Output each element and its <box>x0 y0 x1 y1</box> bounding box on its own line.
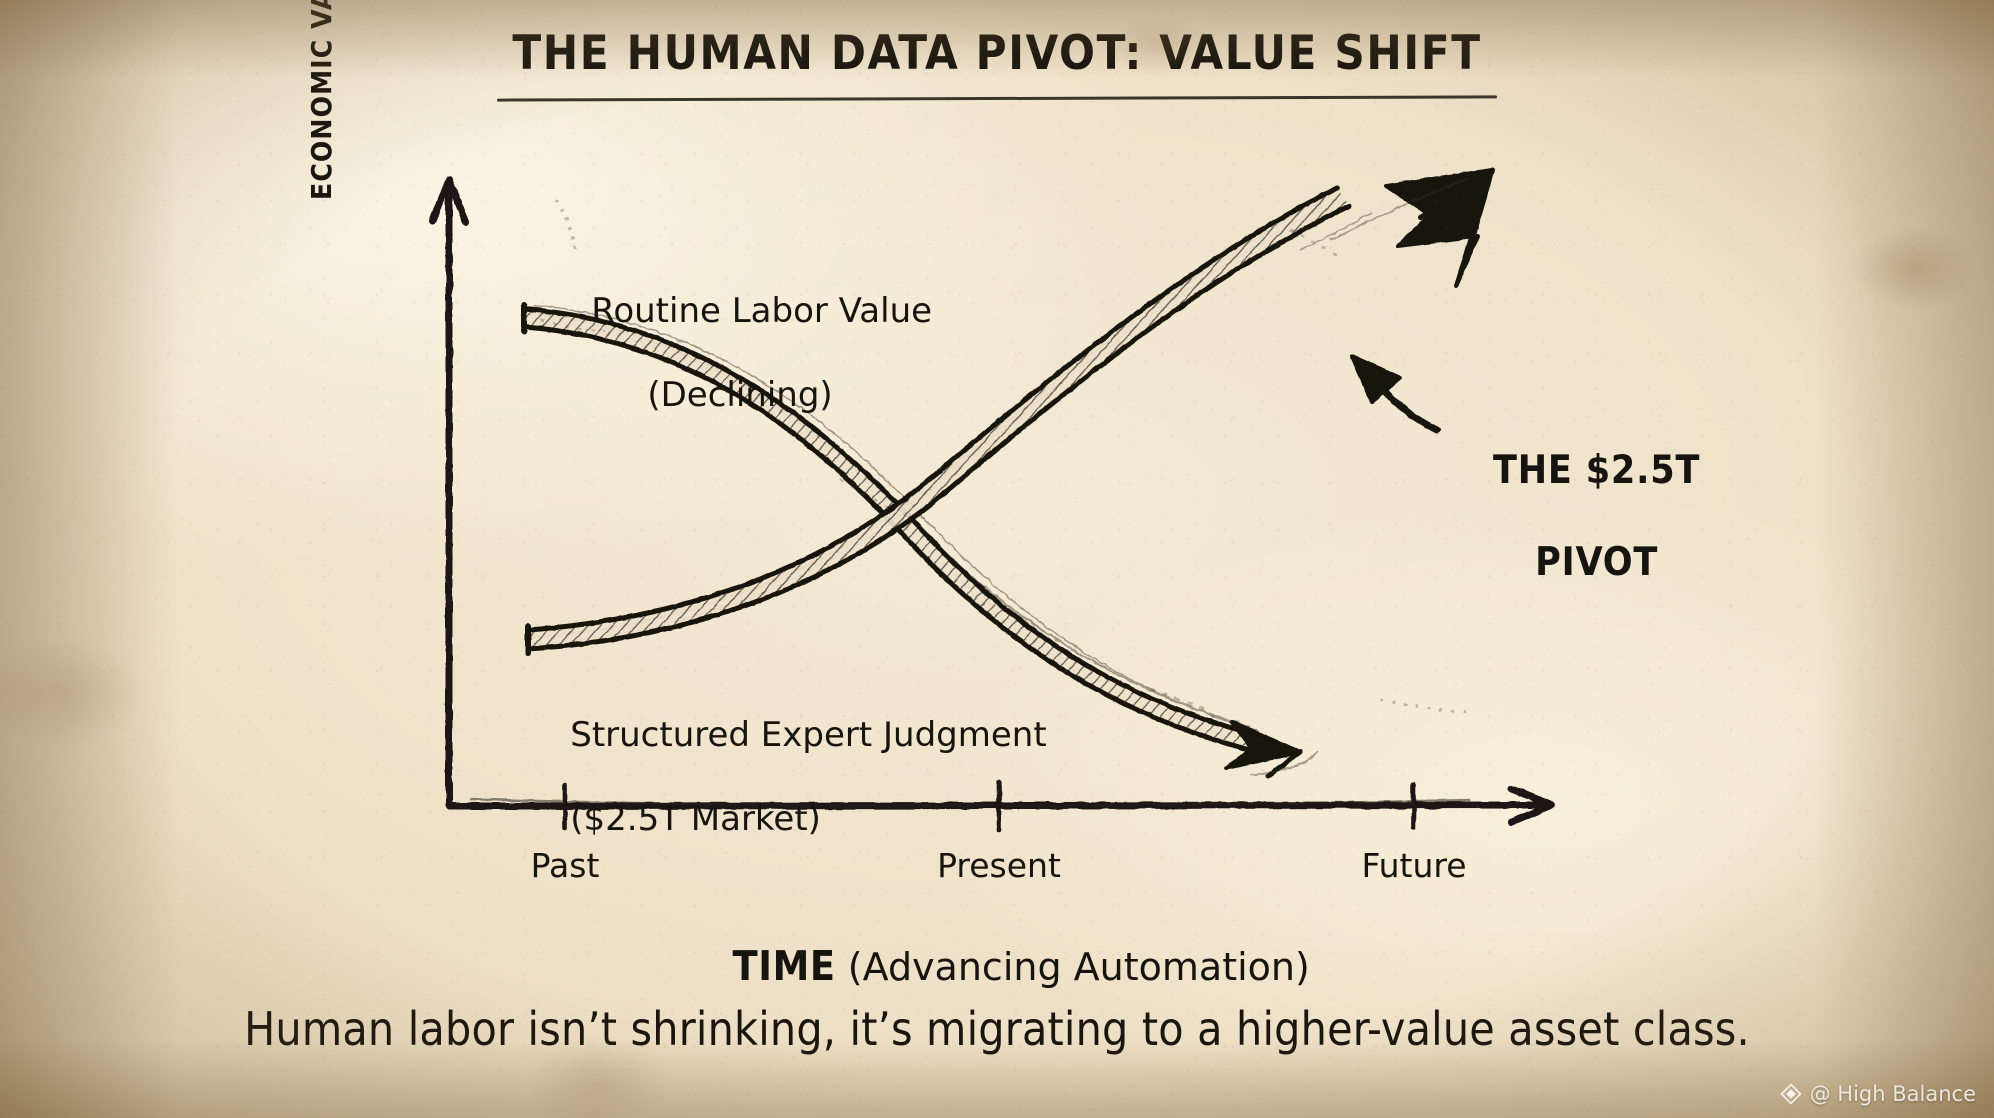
series-label-sej-line2: ($2.5T Market) <box>570 799 821 839</box>
series-label-routine-labor: Routine Labor Value (Declining) <box>548 248 932 501</box>
x-tick-label-past: Past <box>445 846 685 885</box>
x-axis-label-parenthetical: (Advancing Automation) <box>848 945 1310 989</box>
series-label-routine-labor-line2: (Declining) <box>548 374 932 416</box>
x-tick-label-future: Future <box>1294 846 1534 885</box>
watermark: @ High Balance <box>1780 1082 1976 1106</box>
footer-caption: Human labor isn’t shrinking, it’s migrat… <box>0 1002 1994 1056</box>
y-axis-label: ECONOMIC VALUE / CONTRIBUTION <box>305 0 338 200</box>
series-label-sej-line1: Structured Expert Judgment <box>570 715 1046 755</box>
poster-canvas: THE HUMAN DATA PIVOT: VALUE SHIFT <box>0 0 1994 1118</box>
series-label-routine-labor-line1: Routine Labor Value <box>591 291 932 331</box>
pivot-annotation-line2: PIVOT <box>1535 540 1658 585</box>
watermark-handle: @ High Balance <box>1810 1082 1976 1106</box>
x-axis-label-main: TIME <box>733 942 836 990</box>
rising-curve-arrowhead <box>1386 170 1492 286</box>
pivot-callout-arrow <box>1352 356 1437 430</box>
x-tick-label-present: Present <box>879 846 1119 885</box>
diamond-sparkle-icon <box>1780 1083 1802 1105</box>
pivot-annotation-line1: THE $2.5T <box>1493 448 1700 493</box>
pivot-annotation: THE $2.5T PIVOT <box>1441 402 1700 632</box>
